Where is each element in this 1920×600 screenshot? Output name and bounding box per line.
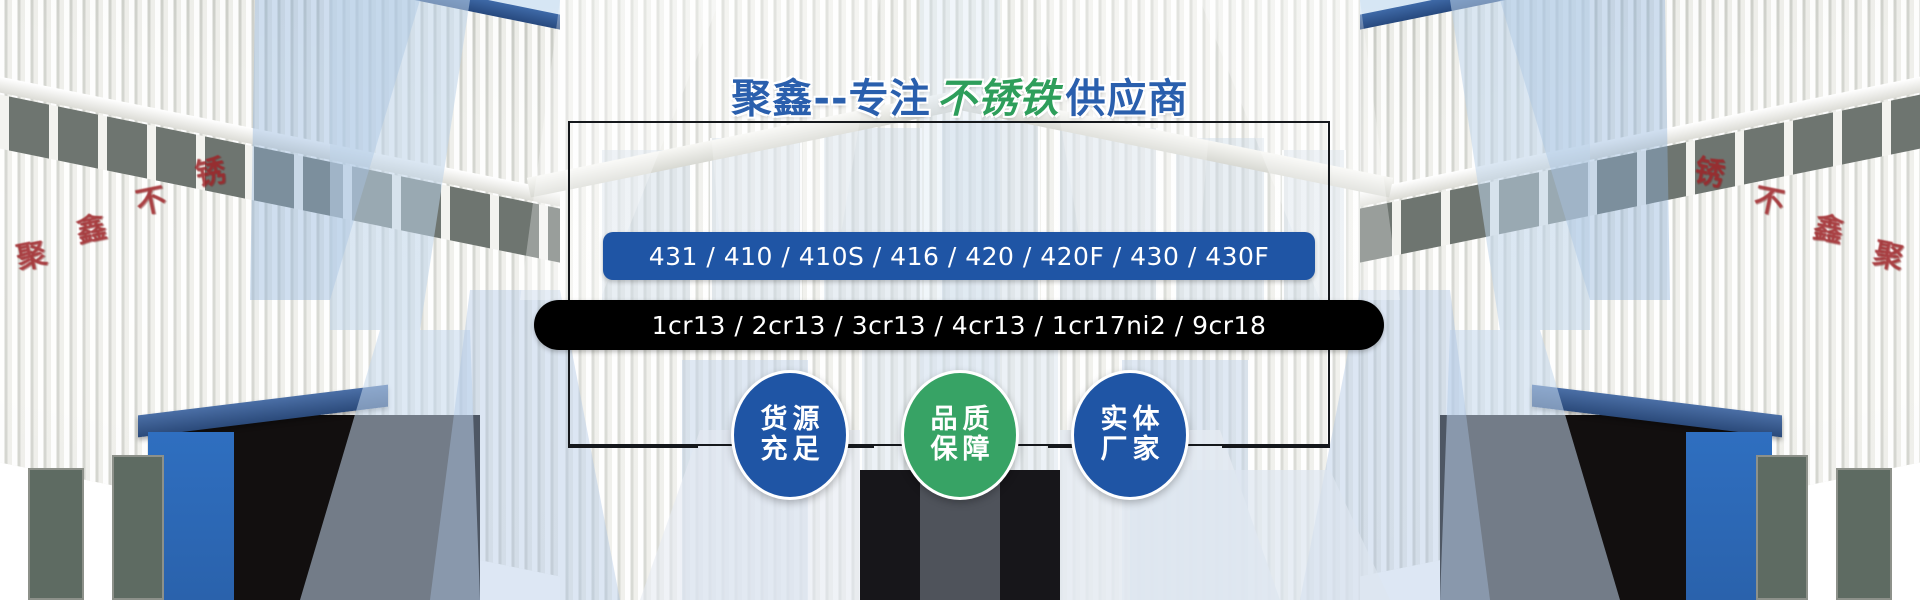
headline-part-3: 供应商 — [1066, 76, 1189, 122]
badge-supply[interactable]: 货源 充足 — [731, 370, 849, 500]
grade-bar-secondary-text: 1cr13 / 2cr13 / 3cr13 / 4cr13 / 1cr17ni2… — [652, 311, 1267, 340]
page-title: 聚鑫--专注不锈铁供应商 — [0, 79, 1920, 119]
badge-factory-line2: 厂家 — [1096, 435, 1165, 465]
promo-banner: 聚 鑫 不 锈 聚 鑫 不 锈 — [0, 0, 1920, 600]
grade-bar-primary: 431 / 410 / 410S / 416 / 420 / 420F / 43… — [603, 232, 1315, 280]
grade-bar-primary-text: 431 / 410 / 410S / 416 / 420 / 420F / 43… — [649, 242, 1270, 271]
headline-part-2: 不锈铁 — [931, 76, 1066, 122]
badge-supply-line1: 货源 — [756, 405, 825, 435]
badge-factory-line1: 实体 — [1096, 405, 1165, 435]
banner-content: 聚鑫--专注不锈铁供应商 431 / 410 / 410S / 416 / 42… — [0, 0, 1920, 600]
feature-badges: 货源 充足 品质 保障 实体 厂家 — [0, 370, 1920, 500]
headline-part-1: 聚鑫--专注 — [731, 76, 930, 122]
badge-supply-line2: 充足 — [756, 435, 825, 465]
grade-bar-secondary: 1cr13 / 2cr13 / 3cr13 / 4cr13 / 1cr17ni2… — [534, 300, 1384, 350]
badge-factory[interactable]: 实体 厂家 — [1071, 370, 1189, 500]
badge-quality-line2: 保障 — [926, 435, 995, 465]
badge-quality-line1: 品质 — [926, 405, 995, 435]
badge-quality[interactable]: 品质 保障 — [901, 370, 1019, 500]
